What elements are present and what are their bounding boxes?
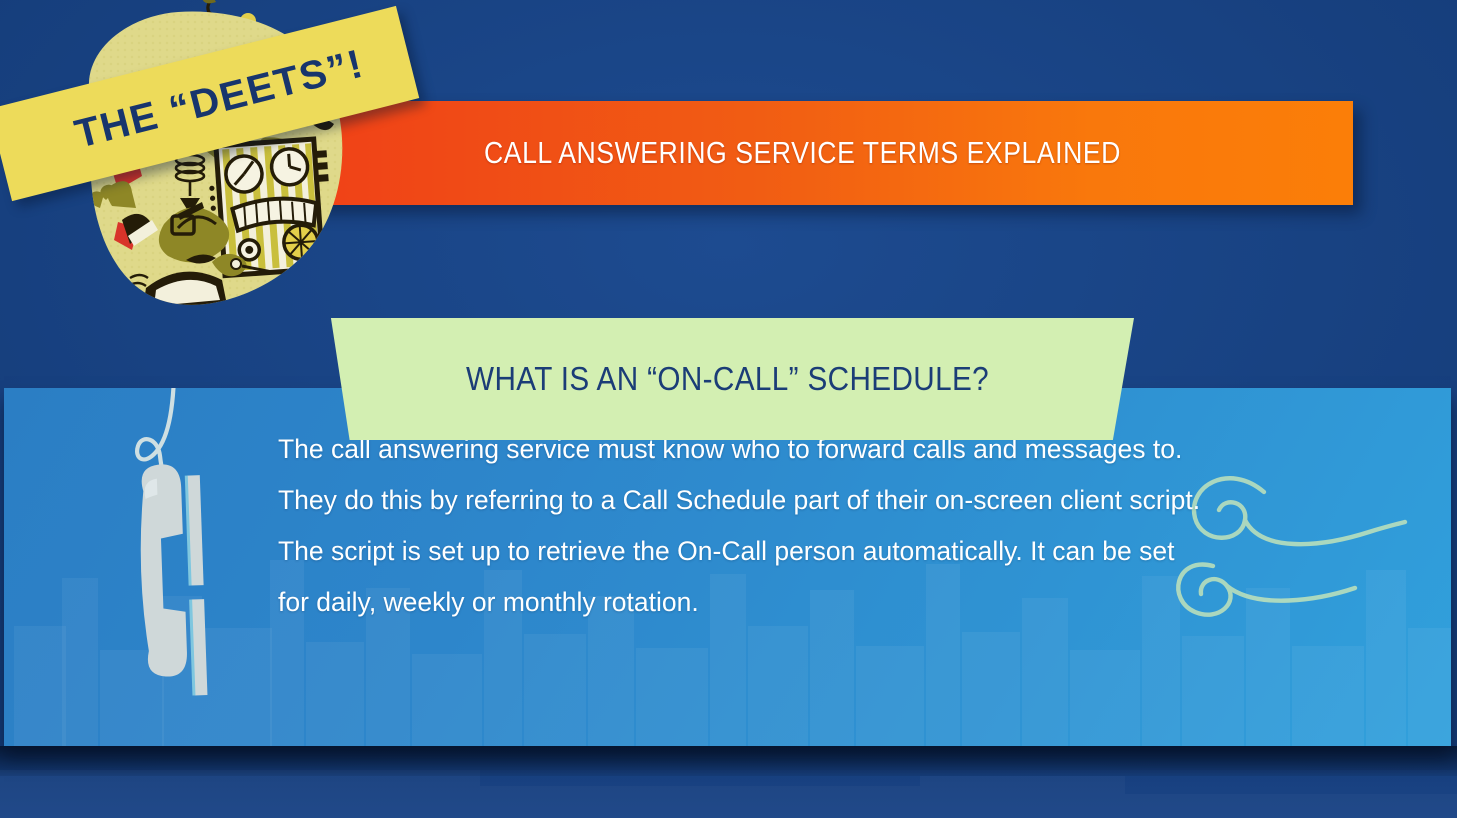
title-banner-text: CALL ANSWERING SERVICE TERMS EXPLAINED (484, 135, 1121, 171)
body-paragraph: The call answering service must know who… (278, 424, 1208, 628)
slide-canvas: CALL ANSWERING SERVICE TERMS EXPLAINED (0, 0, 1457, 818)
footer-background (0, 770, 1457, 818)
panel-drop-shadow (0, 746, 1457, 776)
section-banner: WHAT IS AN “ON-CALL” SCHEDULE? (322, 318, 1134, 440)
hanging-telephone-handset-icon (72, 388, 282, 678)
wind-swirl-icon (1169, 440, 1429, 630)
section-banner-text: WHAT IS AN “ON-CALL” SCHEDULE? (467, 360, 990, 398)
body-panel: The call answering service must know who… (4, 388, 1451, 746)
title-banner: CALL ANSWERING SERVICE TERMS EXPLAINED (170, 101, 1353, 205)
